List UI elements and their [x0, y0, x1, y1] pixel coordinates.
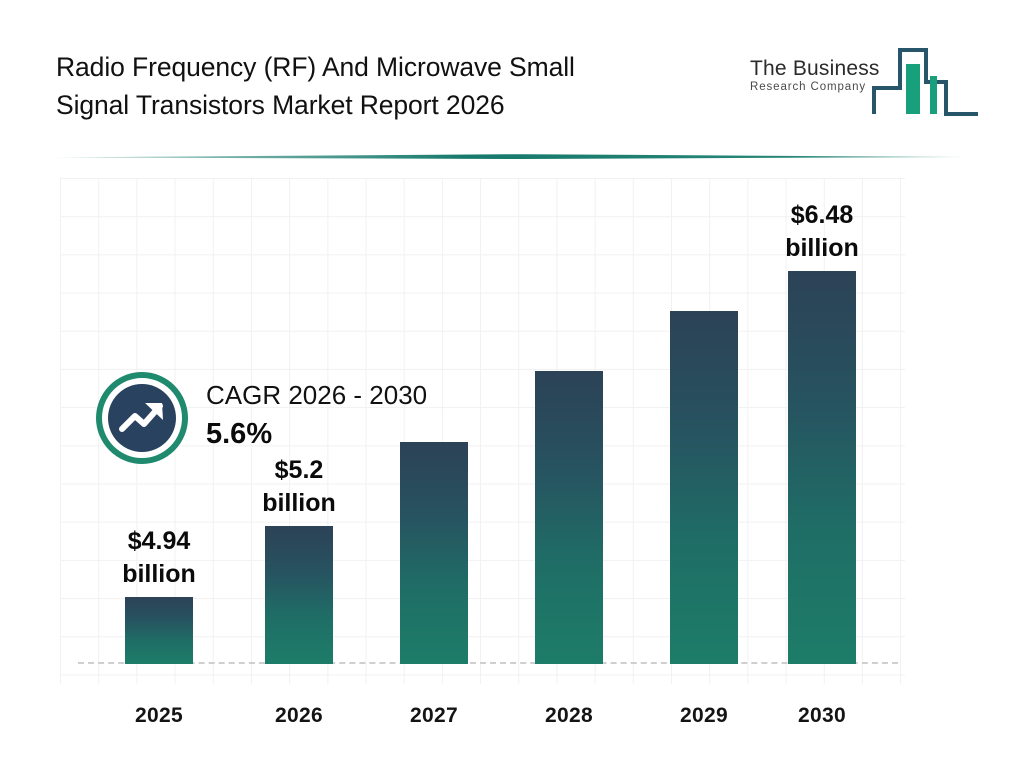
page-title: Radio Frequency (RF) And Microwave Small… — [56, 48, 716, 124]
cagr-badge: CAGR 2026 - 2030 5.6% — [96, 372, 496, 462]
bar-2028[interactable] — [535, 371, 603, 664]
x-tick-2029: 2029 — [644, 704, 764, 728]
bar-value-label-2030: $6.48 billion — [727, 199, 917, 265]
bar-chart: $4.94 billion $5.2 billion — [0, 158, 1024, 768]
bar-value-label-2025: $4.94 billion — [64, 525, 254, 591]
x-tick-2030: 2030 — [762, 704, 882, 728]
bar-slot-2030: $6.48 billion — [788, 271, 856, 664]
cagr-text-block: CAGR 2026 - 2030 5.6% — [206, 378, 427, 454]
bar-slot-2028 — [535, 371, 603, 664]
bar-2027[interactable] — [400, 442, 468, 664]
bar-slot-2025: $4.94 billion — [125, 597, 193, 664]
bar-2025[interactable] — [125, 597, 193, 664]
cagr-period-label: CAGR 2026 - 2030 — [206, 378, 427, 412]
bar-slot-2027 — [400, 442, 468, 664]
bar-2030[interactable] — [788, 271, 856, 664]
bar-value-label-2026: $5.2 billion — [204, 454, 394, 520]
trending-up-arrow-icon — [96, 372, 188, 464]
page-title-line-1: Radio Frequency (RF) And Microwave Small — [56, 48, 716, 86]
bar-chart-skyline-icon — [870, 42, 982, 125]
company-logo: The Business Research Company — [742, 42, 982, 120]
x-tick-2028: 2028 — [509, 704, 629, 728]
bar-2029[interactable] — [670, 311, 738, 664]
bar-slot-2026: $5.2 billion — [265, 526, 333, 664]
bar-slot-2029 — [670, 311, 738, 664]
x-tick-2025: 2025 — [99, 704, 219, 728]
header: Radio Frequency (RF) And Microwave Small… — [0, 0, 1024, 158]
chart-baseline — [78, 662, 898, 664]
cagr-value: 5.6% — [206, 414, 427, 454]
x-axis: 2025 2026 2027 2028 2029 2030 — [60, 704, 905, 744]
bar-2026[interactable] — [265, 526, 333, 664]
x-tick-2026: 2026 — [239, 704, 359, 728]
page-title-line-2: Signal Transistors Market Report 2026 — [56, 86, 716, 124]
x-tick-2027: 2027 — [374, 704, 494, 728]
